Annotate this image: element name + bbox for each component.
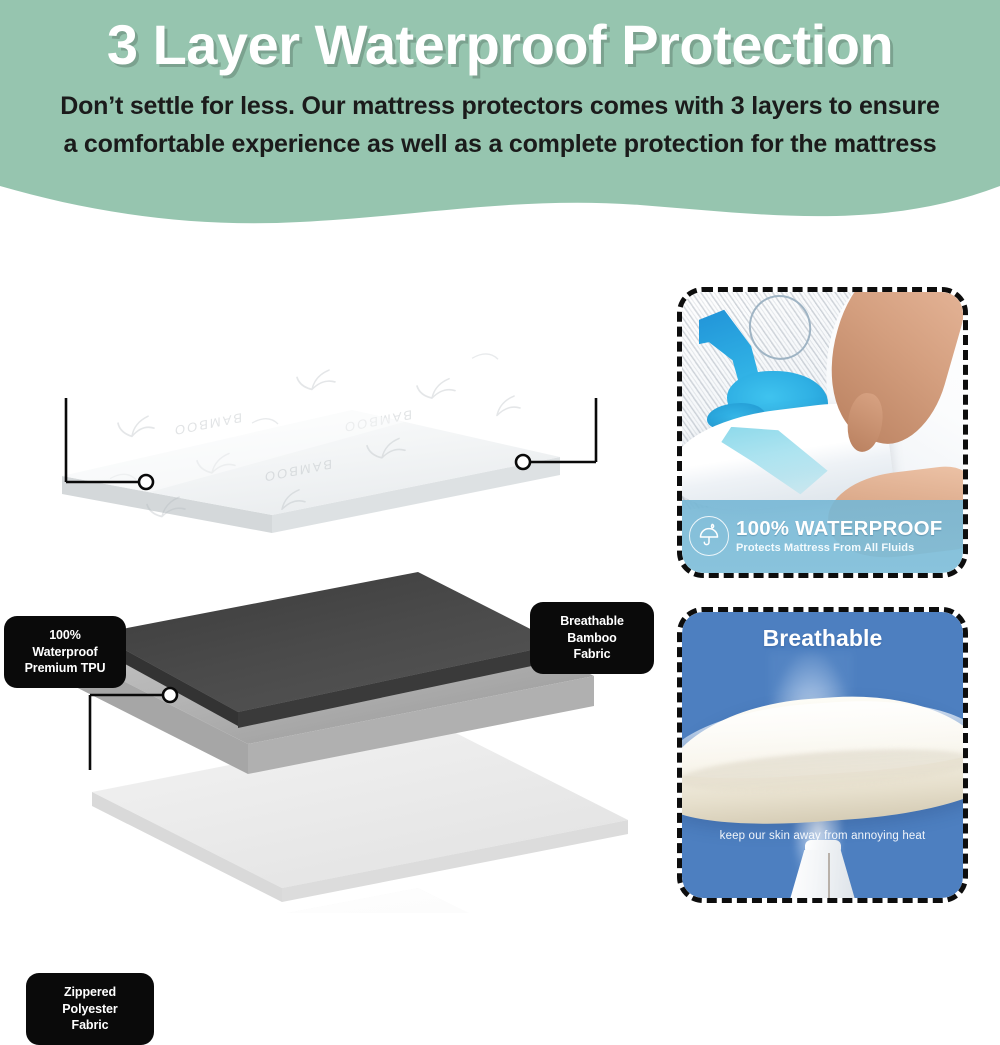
fabric-drape-image <box>682 686 963 832</box>
layer-diagram-svg: BAMBOO BAMBOO BAMBOO <box>0 250 660 913</box>
page-title: 3 Layer Waterproof Protection <box>107 14 893 77</box>
callout-waterproof-tpu[interactable]: 100% Waterproof Premium TPU <box>4 616 126 688</box>
callout-zippered-polyester[interactable]: Zippered Polyester Fabric <box>26 973 154 1045</box>
breathable-photo: Breathable keep our skin away from annoy… <box>682 612 963 898</box>
breathable-title: Breathable <box>682 625 963 652</box>
callout-line-1: 100% Waterproof <box>17 627 113 660</box>
page-subtitle: Don’t settle for less. Our mattress prot… <box>60 87 940 163</box>
callout-line-2: Fabric <box>543 646 641 663</box>
umbrella-droplet-icon <box>689 516 729 556</box>
header-banner: 3 Layer Waterproof Protection Don’t sett… <box>0 0 1000 235</box>
mattress-base <box>72 888 608 913</box>
callout-line-1: Zippered Polyester <box>39 984 141 1017</box>
breathable-photo-panel[interactable]: Breathable keep our skin away from annoy… <box>677 607 968 903</box>
callout-line-2: Premium TPU <box>17 660 113 677</box>
callout-line-2: Fabric <box>39 1017 141 1034</box>
waterproof-photo-panel[interactable]: 100% WATERPROOF Protects Mattress From A… <box>677 287 968 578</box>
waterproof-badge-title: 100% WATERPROOF <box>736 518 943 540</box>
tpu-membrane-layer <box>58 572 594 774</box>
waterproof-photo: 100% WATERPROOF Protects Mattress From A… <box>682 292 963 573</box>
callout-line-1: Breathable Bamboo <box>543 613 641 646</box>
svg-text:BAMBOO: BAMBOO <box>173 410 242 438</box>
waterproof-badge: 100% WATERPROOF Protects Mattress From A… <box>682 500 963 573</box>
bamboo-top-layer: BAMBOO BAMBOO BAMBOO <box>62 333 560 543</box>
waterproof-badge-subtitle: Protects Mattress From All Fluids <box>736 543 943 555</box>
callout-breathable-bamboo[interactable]: Breathable Bamboo Fabric <box>530 602 654 674</box>
layer-diagram: BAMBOO BAMBOO BAMBOO <box>0 250 660 913</box>
